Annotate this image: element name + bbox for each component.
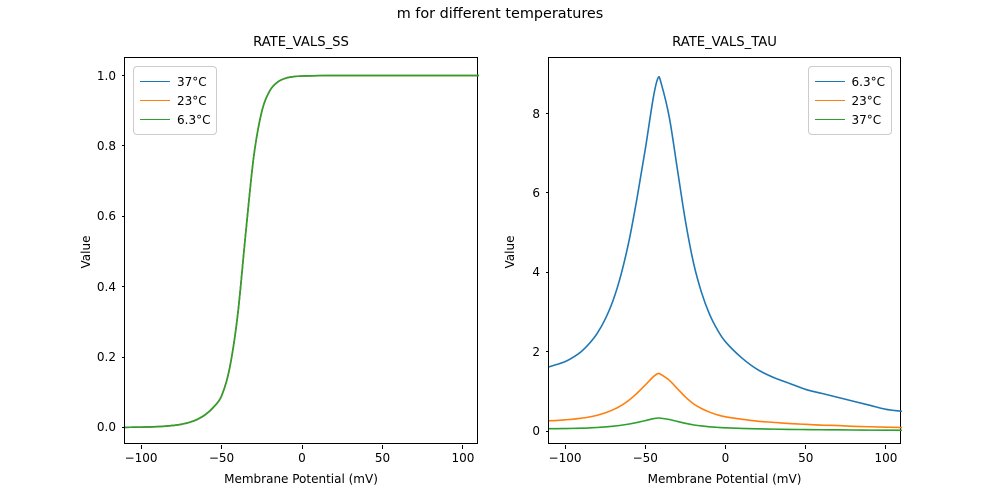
ytick-label-right-0: 0 [532,424,540,438]
ytick-label-left-2: 0.4 [97,280,116,294]
ytick-mark-left-0 [122,427,126,428]
legend-line-swatch-icon [140,100,170,101]
legend-entry-left-1: 23°C [140,91,210,110]
xtick-mark-right-3 [805,445,806,449]
xtick-label-left-2: 0 [298,451,306,465]
ytick-label-right-1: 2 [532,345,540,359]
subplot-rate-vals-ss: RATE_VALS_SS −100−500501000.00.20.40.60.… [124,57,478,444]
xtick-mark-right-4 [885,445,886,449]
legend-line-swatch-icon [815,100,845,101]
xtick-label-right-2: 0 [722,451,730,465]
xtick-mark-left-3 [382,445,383,449]
legend-line-swatch-icon [140,119,170,120]
legend-entry-left-2: 6.3°C [140,110,210,129]
ytick-mark-right-4 [546,113,550,114]
ytick-mark-left-4 [122,145,126,146]
legend-left[interactable]: 37°C23°C6.3°C [133,66,217,135]
line-series-right-2 [549,418,902,430]
xtick-label-left-3: 50 [375,451,390,465]
xtick-mark-right-1 [645,445,646,449]
subplot-rate-vals-tau: RATE_VALS_TAU −100−5005010002468Membrane… [548,57,901,444]
xtick-mark-right-2 [725,445,726,449]
xaxis-label-left: Membrane Potential (mV) [125,472,477,486]
ytick-label-left-5: 1.0 [97,69,116,83]
legend-line-swatch-icon [815,119,845,120]
legend-label-right-0: 6.3°C [852,75,885,89]
xtick-label-left-1: −50 [209,451,234,465]
ytick-label-left-0: 0.0 [97,420,116,434]
xtick-label-left-0: −100 [125,451,158,465]
ytick-mark-right-1 [546,351,550,352]
ytick-label-left-4: 0.8 [97,139,116,153]
ytick-label-right-2: 4 [532,265,540,279]
subplot-title-left: RATE_VALS_SS [125,35,477,50]
xtick-label-right-3: 50 [798,451,813,465]
legend-entry-right-1: 23°C [815,91,885,110]
yaxis-label-left: Value [79,235,93,268]
xtick-label-left-4: 100 [451,451,474,465]
legend-entry-right-0: 6.3°C [815,72,885,91]
legend-label-right-1: 23°C [852,94,882,108]
ytick-label-right-3: 6 [532,186,540,200]
xtick-label-right-4: 100 [875,451,898,465]
legend-entry-left-0: 37°C [140,72,210,91]
legend-label-left-1: 23°C [177,94,207,108]
xtick-mark-left-1 [221,445,222,449]
ytick-mark-right-2 [546,272,550,273]
figure-suptitle: m for different temperatures [0,6,1000,22]
ytick-mark-left-3 [122,216,126,217]
xtick-mark-left-2 [302,445,303,449]
legend-line-swatch-icon [140,81,170,82]
ytick-label-left-1: 0.2 [97,350,116,364]
ytick-mark-left-1 [122,357,126,358]
yaxis-label-right: Value [503,235,517,268]
ytick-mark-left-2 [122,286,126,287]
xtick-mark-left-0 [141,445,142,449]
legend-label-left-2: 6.3°C [177,113,210,127]
ytick-mark-right-0 [546,431,550,432]
ytick-label-right-4: 8 [532,107,540,121]
xaxis-label-right: Membrane Potential (mV) [549,472,900,486]
legend-label-right-2: 37°C [852,113,882,127]
ytick-label-left-3: 0.6 [97,209,116,223]
xtick-mark-left-4 [462,445,463,449]
ytick-mark-right-3 [546,192,550,193]
xtick-label-right-0: −100 [549,451,582,465]
legend-label-left-0: 37°C [177,75,207,89]
ytick-mark-left-5 [122,75,126,76]
legend-right[interactable]: 6.3°C23°C37°C [808,66,892,135]
matplotlib-figure: m for different temperatures RATE_VALS_S… [0,0,1000,500]
xtick-label-right-1: −50 [633,451,658,465]
legend-line-swatch-icon [815,81,845,82]
legend-entry-right-2: 37°C [815,110,885,129]
subplot-title-right: RATE_VALS_TAU [549,35,900,50]
xtick-mark-right-0 [565,445,566,449]
